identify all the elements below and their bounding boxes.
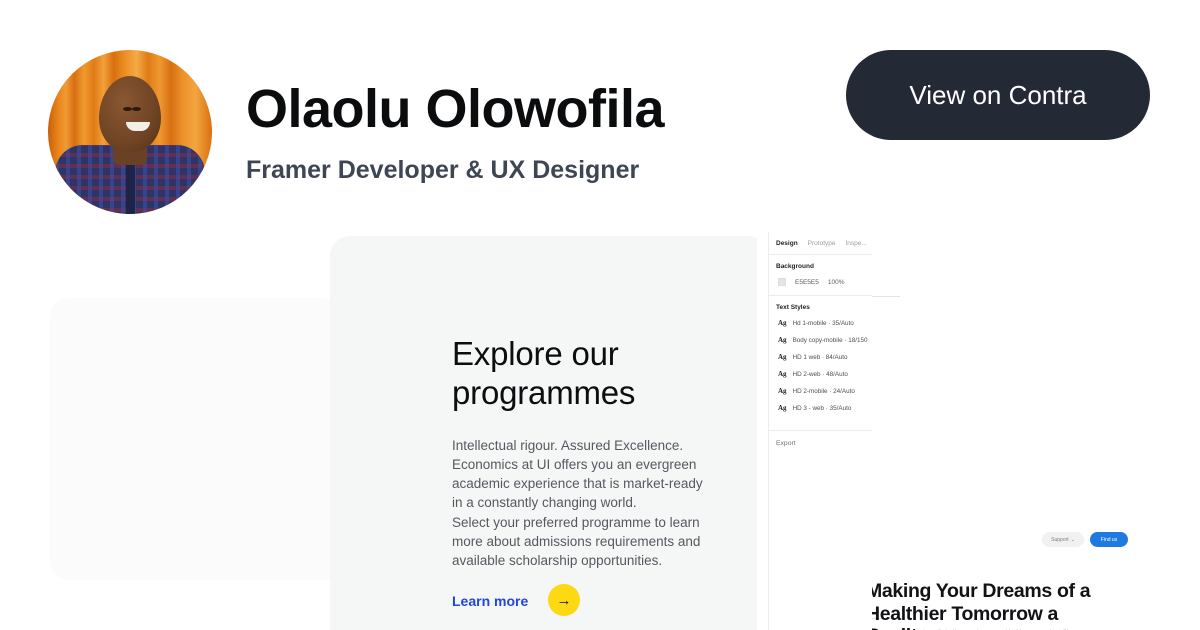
project-card-body: Intellectual rigour. Assured Excellence.… — [452, 436, 720, 570]
text-style-label: Hd 1-mobile · 35/Auto — [793, 320, 854, 327]
body-line: Select your preferred programme to learn — [452, 513, 720, 532]
preview-find-us-button[interactable]: Find us — [1090, 532, 1128, 547]
avatar-head — [99, 76, 161, 152]
body-line: Economics at UI offers you an evergreen — [452, 455, 720, 474]
share-card-canvas: Olaolu Olowofila Framer Developer & UX D… — [0, 0, 1200, 630]
text-style-row[interactable]: Ag HD 3 - web · 35/Auto — [776, 404, 865, 412]
background-opacity-value[interactable]: 100% — [828, 279, 845, 286]
avatar-smile — [126, 122, 150, 131]
text-style-icon: Ag — [778, 387, 787, 395]
project-card-title: Explore our programmes — [452, 335, 732, 412]
text-style-row[interactable]: Ag HD 2-mobile · 24/Auto — [776, 387, 865, 395]
export-section-label[interactable]: Export — [769, 431, 872, 456]
body-line: more about admissions requirements and — [452, 532, 720, 551]
body-line: in a constantly changing world. — [452, 493, 720, 512]
view-on-contra-button[interactable]: View on Contra — [846, 50, 1150, 140]
preview-support-label: Support — [1051, 537, 1069, 543]
text-style-icon: Ag — [778, 319, 787, 327]
text-style-icon: Ag — [778, 370, 787, 378]
background-card-shape — [50, 298, 340, 580]
project-preview-card[interactable]: Explore our programmes Intellectual rigo… — [330, 236, 768, 630]
text-style-row[interactable]: Ag Body copy-mobile · 18/150 — [776, 336, 865, 344]
avatar — [48, 50, 212, 214]
body-line: available scholarship opportunities. — [452, 551, 720, 570]
tab-prototype[interactable]: Prototype — [808, 240, 836, 247]
text-styles-section: Text Styles Ag Hd 1-mobile · 35/Auto Ag … — [769, 296, 872, 430]
arrow-right-icon[interactable]: → — [548, 584, 580, 616]
avatar-portrait — [48, 50, 212, 214]
text-style-icon: Ag — [778, 353, 787, 361]
text-style-icon: Ag — [778, 404, 787, 412]
chevron-down-icon: ⌄ — [1071, 537, 1075, 543]
learn-more-link[interactable]: Learn more — [452, 593, 528, 609]
text-styles-section-title: Text Styles — [776, 304, 865, 311]
text-style-icon: Ag — [778, 336, 787, 344]
website-preview: Support ⌄ Find us Making Your Dreams of … — [872, 232, 1200, 630]
avatar-eye-right — [132, 107, 141, 111]
color-swatch-icon[interactable] — [778, 278, 786, 286]
background-section-title: Background — [776, 263, 865, 270]
design-tool-panel: Design Prototype Inspe... Background E5E… — [768, 232, 872, 630]
text-style-row[interactable]: Ag HD 2-web · 48/Auto — [776, 370, 865, 378]
page-title: Olaolu Olowofila — [246, 78, 664, 140]
tab-inspect[interactable]: Inspe... — [846, 240, 867, 247]
tab-design[interactable]: Design — [776, 240, 798, 247]
canvas-guide-line — [872, 296, 900, 297]
text-style-label: HD 2-mobile · 24/Auto — [793, 388, 855, 395]
text-style-row[interactable]: Ag HD 1 web · 84/Auto — [776, 353, 865, 361]
text-style-label: HD 2-web · 48/Auto — [793, 371, 848, 378]
preview-headline: Making Your Dreams of a Healthier Tomorr… — [872, 580, 1096, 630]
text-style-row[interactable]: Ag Hd 1-mobile · 35/Auto — [776, 319, 865, 327]
panel-tabs: Design Prototype Inspe... — [769, 232, 872, 254]
body-line: academic experience that is market-ready — [452, 474, 720, 493]
preview-support-dropdown[interactable]: Support ⌄ — [1042, 532, 1084, 547]
text-style-label: HD 3 - web · 35/Auto — [793, 405, 852, 412]
background-section: Background E5E5E5 100% — [769, 255, 872, 295]
body-line: Intellectual rigour. Assured Excellence. — [452, 436, 720, 455]
text-style-label: HD 1 web · 84/Auto — [793, 354, 848, 361]
background-hex-value[interactable]: E5E5E5 — [795, 279, 819, 286]
profile-tagline: Framer Developer & UX Designer — [246, 156, 639, 185]
background-color-row[interactable]: E5E5E5 100% — [776, 278, 865, 286]
avatar-eye-left — [123, 107, 132, 111]
panel-scrollbar[interactable] — [757, 232, 768, 630]
text-style-label: Body copy-mobile · 18/150 — [793, 337, 868, 344]
